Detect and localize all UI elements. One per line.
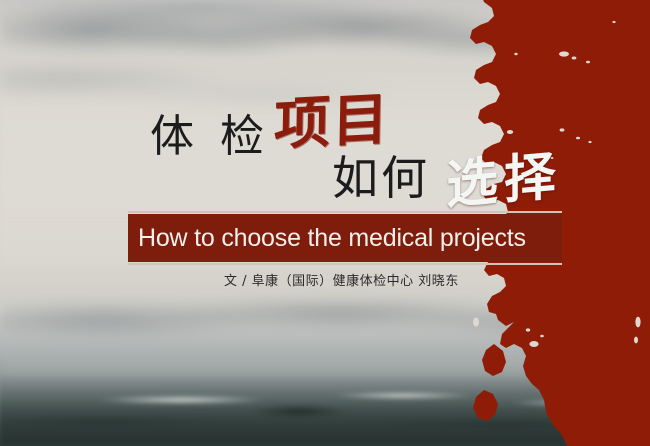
title-white-brush-text: 选择 — [446, 151, 562, 211]
title-line-2: 如何 选择 — [332, 152, 562, 201]
banner-rule-bottom — [128, 263, 562, 265]
banner-rule-top — [128, 211, 562, 213]
subtitle-english: How to choose the medical projects — [138, 222, 526, 254]
title-black-text-2: 如何 — [332, 155, 430, 201]
poster-canvas: 体 检 项目 如何 选择 How to choose the medical p… — [0, 0, 650, 446]
byline: 文 / 阜康（国际）健康体检中心 刘晓东 — [224, 270, 459, 289]
title-black-text-1: 体 检 — [150, 115, 270, 159]
ocean-waves — [0, 374, 650, 446]
title-red-brush-text: 项目 — [274, 94, 391, 152]
